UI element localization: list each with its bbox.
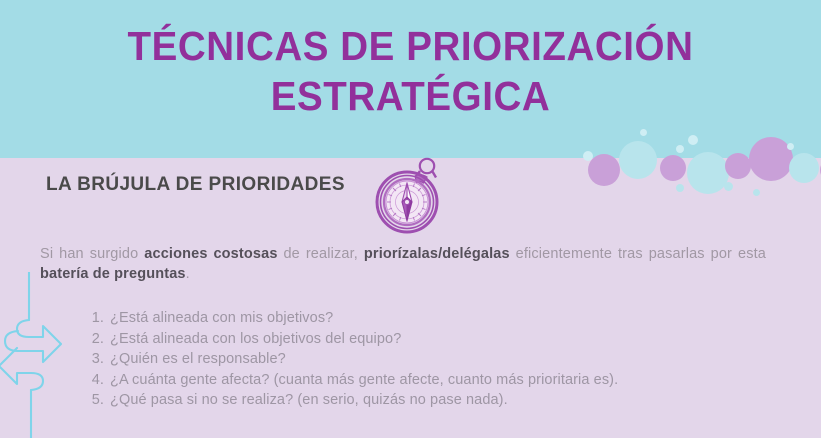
list-item-label: ¿Está alineada con mis objetivos? <box>110 308 333 329</box>
decorative-bubble <box>753 189 760 196</box>
decorative-bubble <box>676 184 684 192</box>
list-item: 3.¿Quién es el responsable? <box>86 349 786 370</box>
list-item: 5.¿Qué pasa si no se realiza? (en serio,… <box>86 390 786 411</box>
intro-bold-1: acciones costosas <box>144 246 277 262</box>
swap-arrows-icon <box>0 272 62 438</box>
question-list: 1.¿Está alineada con mis objetivos?2.¿Es… <box>86 308 786 411</box>
list-item-number: 5. <box>86 390 104 411</box>
decorative-bubble <box>724 182 733 191</box>
intro-text-2: de realizar, <box>278 246 364 262</box>
intro-text-1: Si han surgido <box>40 246 144 262</box>
list-item: 4.¿A cuánta gente afecta? (cuanta más ge… <box>86 370 786 391</box>
page-title: TÉCNICAS DE PRIORIZACIÓN ESTRATÉGICA <box>0 21 821 121</box>
intro-bold-2: priorízalas/delégalas <box>364 246 510 262</box>
intro-paragraph: Si han surgido acciones costosas de real… <box>40 244 766 284</box>
compass-icon <box>370 157 448 237</box>
section-heading: LA BRÚJULA DE PRIORIDADES <box>46 174 345 196</box>
list-item-number: 1. <box>86 308 104 329</box>
title-line-1: TÉCNICAS DE PRIORIZACIÓN <box>25 21 797 71</box>
list-item-label: ¿Qué pasa si no se realiza? (en serio, q… <box>110 390 508 411</box>
decorative-bubble <box>660 155 686 181</box>
intro-text-3: eficientemente tras pasarlas por esta <box>510 246 766 262</box>
intro-bold-3: batería de preguntas <box>40 266 186 282</box>
list-item-number: 4. <box>86 370 104 391</box>
list-item: 1.¿Está alineada con mis objetivos? <box>86 308 786 329</box>
intro-text-4: . <box>186 266 190 282</box>
list-item-number: 3. <box>86 349 104 370</box>
list-item-label: ¿Está alineada con los objetivos del equ… <box>110 329 401 350</box>
decorative-bubble <box>687 152 729 194</box>
list-item-label: ¿Quién es el responsable? <box>110 349 286 370</box>
decorative-bubble <box>588 154 620 186</box>
title-line-2: ESTRATÉGICA <box>25 71 797 121</box>
list-item: 2.¿Está alineada con los objetivos del e… <box>86 329 786 350</box>
list-item-number: 2. <box>86 329 104 350</box>
slide-canvas: TÉCNICAS DE PRIORIZACIÓN ESTRATÉGICA LA … <box>0 0 821 438</box>
list-item-label: ¿A cuánta gente afecta? (cuanta más gent… <box>110 370 618 391</box>
